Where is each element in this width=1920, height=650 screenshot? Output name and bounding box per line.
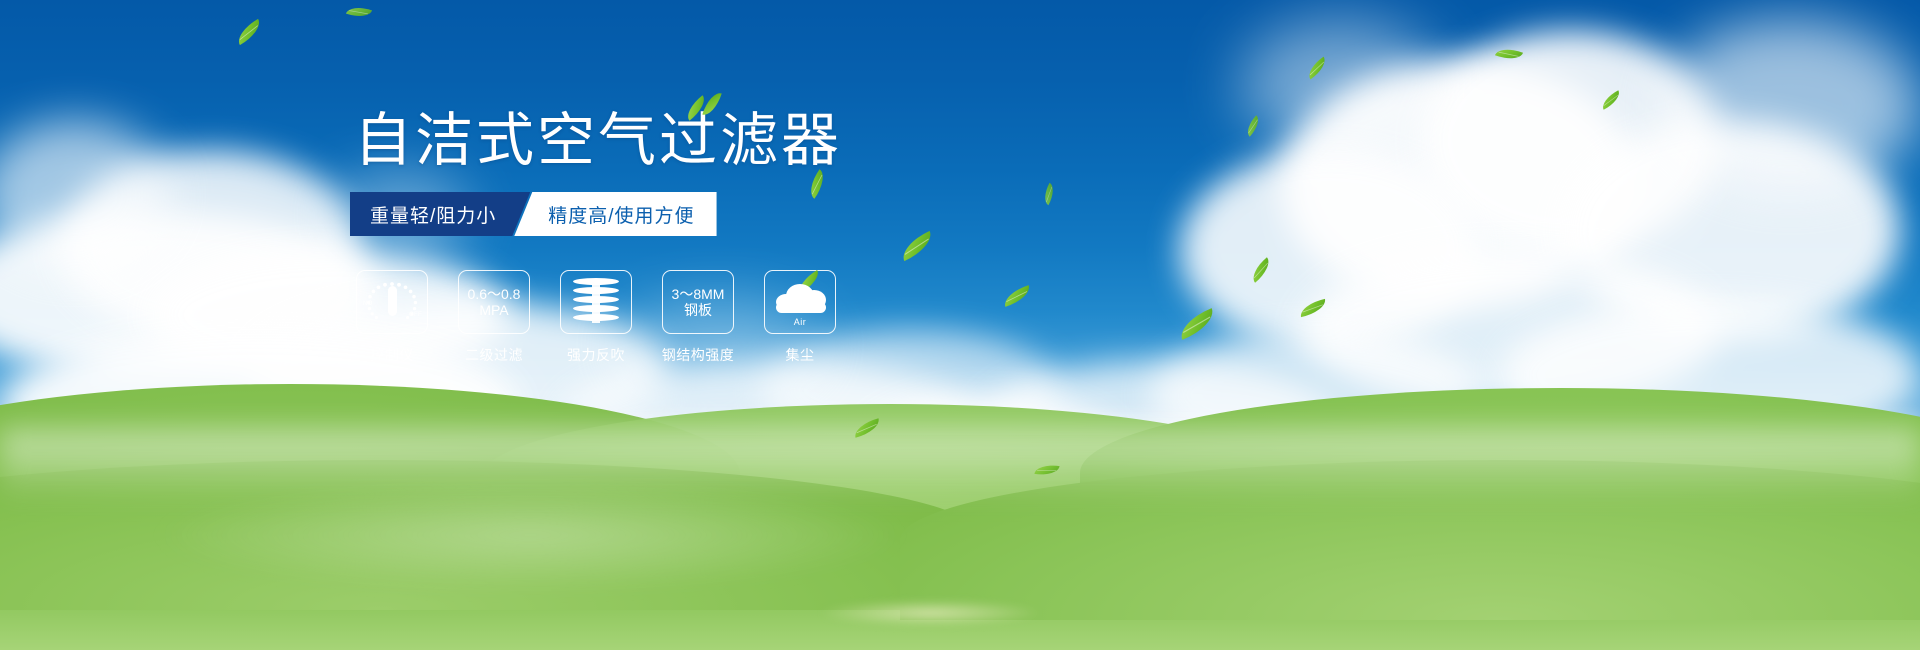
feature-item-backblow[interactable]: 强力反吹 [560,270,632,365]
feature-list: NO OFF 控制仪 0.6～0.8 MPA 二级过滤 [356,270,836,365]
feature-label: 钢结构强度 [662,345,735,365]
feature-box-line1: 3～8MM [672,286,725,302]
feature-box-line1: 0.6～0.8 [468,286,521,302]
feature-icon-box: 3～8MM 钢板 [662,270,734,334]
feature-item-filtration[interactable]: 0.6～0.8 MPA 二级过滤 [458,270,530,365]
page-title: 自洁式空气过滤器 [354,112,842,170]
air-cloud-icon: Air [772,280,828,324]
feature-item-dust[interactable]: Air 集尘 [764,270,836,365]
tagline-tab-1[interactable]: 重量轻/阻力小 [350,192,530,236]
filter-stack-icon [573,278,619,326]
feature-label: 强力反吹 [567,345,625,365]
filter-ring [573,314,619,321]
feature-icon-box [560,270,632,334]
pressure-text-icon: 0.6～0.8 MPA [468,286,521,318]
gauge-max-label: OFF [409,312,422,318]
feature-item-steel[interactable]: 3～8MM 钢板 钢结构强度 [662,270,734,365]
leaf-icon [702,90,721,118]
feature-box-line2: 钢板 [672,302,725,318]
feature-icon-box: NO OFF [356,270,428,334]
filter-ring [573,305,619,312]
steel-plate-text-icon: 3～8MM 钢板 [672,286,725,318]
air-label: Air [772,317,828,327]
feature-label: 集尘 [786,345,815,365]
gauge-min-label: NO [363,301,373,307]
banner-content: 自洁式空气过滤器 重量轻/阻力小 精度高/使用方便 [0,0,1920,650]
filter-ring [573,278,619,285]
feature-label: 二级过滤 [465,345,523,365]
title-leaf-decoration [683,88,729,122]
tagline-tabs: 重量轻/阻力小 精度高/使用方便 [350,192,717,236]
tagline-tab-2[interactable]: 精度高/使用方便 [514,192,716,236]
hero-banner: 自洁式空气过滤器 重量轻/阻力小 精度高/使用方便 [0,0,1920,650]
filter-ring [573,296,619,303]
feature-box-line2: MPA [468,302,521,318]
filter-ring [573,287,619,294]
feature-icon-box: 0.6～0.8 MPA [458,270,530,334]
feature-label: 控制仪 [370,345,414,365]
gauge-dial-icon: NO OFF [364,279,420,325]
feature-item-control[interactable]: NO OFF 控制仪 [356,270,428,365]
feature-icon-box: Air [764,270,836,334]
cloud-base [776,302,826,313]
gauge-needle [388,286,397,316]
